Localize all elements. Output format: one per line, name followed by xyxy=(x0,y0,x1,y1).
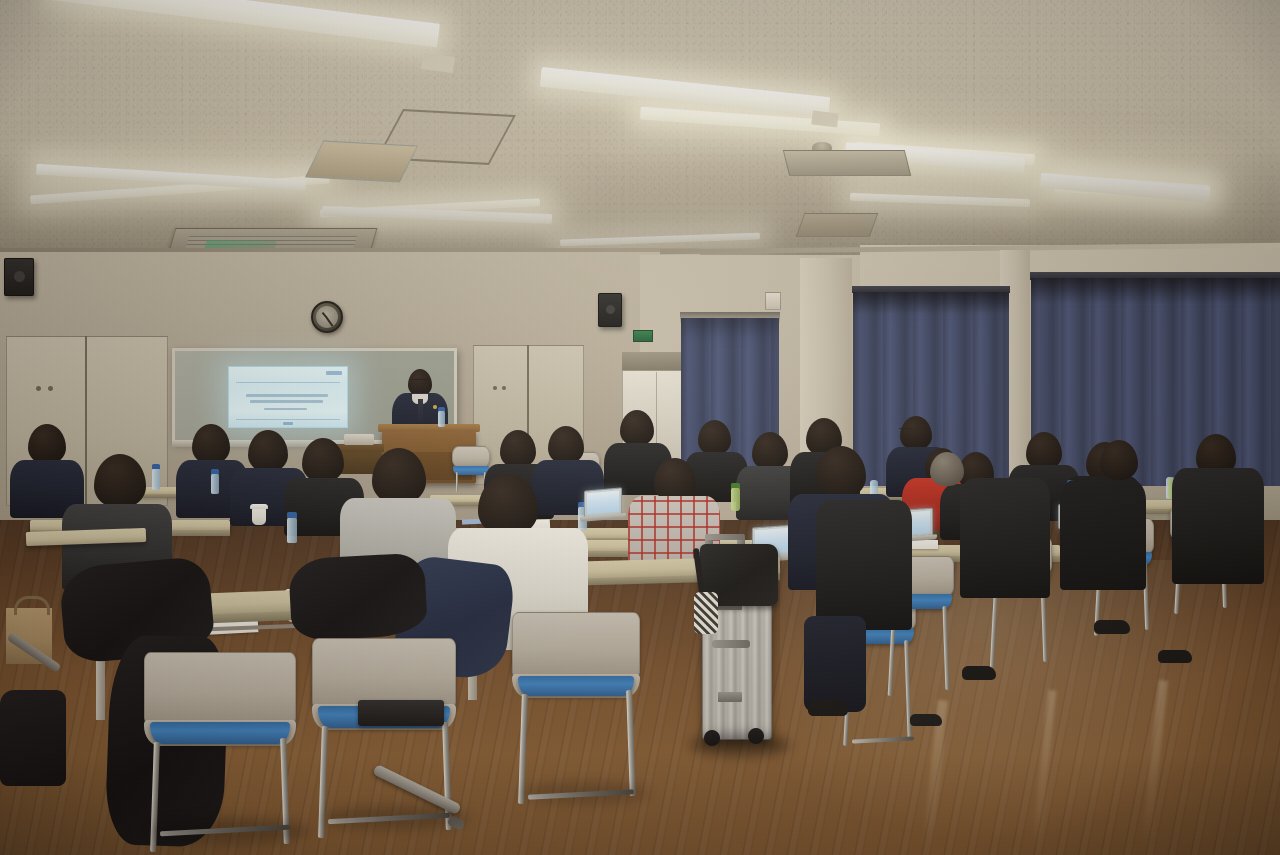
projector-device xyxy=(344,434,374,445)
equipment-case-on-chair[interactable] xyxy=(358,700,444,726)
wall-clock xyxy=(311,301,343,333)
water-bottle xyxy=(152,468,160,490)
chair-seat-foreground[interactable] xyxy=(518,676,634,696)
slide-logo-icon xyxy=(326,371,342,375)
door-handle-icon[interactable] xyxy=(48,386,53,391)
slide-divider xyxy=(236,382,340,383)
presenter-glasses-icon xyxy=(411,379,429,384)
suitcase-latch-icon[interactable] xyxy=(718,692,742,702)
coffee-cup xyxy=(252,508,266,525)
loudspeaker-left xyxy=(4,258,34,296)
audience-shoe xyxy=(962,666,996,680)
water-bottle xyxy=(211,473,219,494)
wall-control-box[interactable] xyxy=(765,292,781,310)
audience-glasses-icon xyxy=(899,428,912,432)
audience-shoe xyxy=(1094,620,1130,634)
slide-text-line xyxy=(246,394,329,397)
slide-text-line xyxy=(250,400,323,403)
backpack-under-table[interactable] xyxy=(0,690,66,786)
chair-back[interactable] xyxy=(452,446,490,468)
chair-back-foreground[interactable] xyxy=(144,652,296,726)
photo-scene xyxy=(0,0,1280,855)
paper-bag-handle xyxy=(14,596,50,615)
door-seam xyxy=(85,336,87,506)
chair-back-foreground[interactable] xyxy=(512,612,640,680)
exit-sign xyxy=(633,330,653,342)
audience-head xyxy=(28,424,66,464)
coffee-cup-lid-icon xyxy=(250,504,268,509)
slide-divider xyxy=(236,419,340,420)
audience-head xyxy=(900,416,932,450)
light-fixture-end-cap xyxy=(811,110,839,127)
curtain-near-window xyxy=(1031,278,1280,494)
audience-head xyxy=(620,410,654,446)
slide-text-line xyxy=(264,408,306,410)
chair-floor-shadow xyxy=(520,782,650,804)
audience-head xyxy=(192,424,230,464)
audience-head xyxy=(500,430,536,468)
bottle-cap-icon xyxy=(287,512,297,518)
suitcase-side-handle[interactable] xyxy=(712,640,750,648)
audience-shoe xyxy=(1158,650,1192,663)
door-handle-icon[interactable] xyxy=(502,386,506,390)
equipment-table xyxy=(336,444,384,452)
audience-shoe xyxy=(910,714,942,726)
chair-seat-foreground[interactable] xyxy=(150,722,290,744)
audience-head-gray-hair xyxy=(930,452,964,486)
bottle-cap-icon xyxy=(731,483,740,488)
speaker-cone-icon xyxy=(606,305,615,314)
door-handle-icon[interactable] xyxy=(493,386,497,390)
audience-head xyxy=(1100,440,1138,480)
cabinet-top-shelf xyxy=(622,352,690,370)
clock-face xyxy=(316,306,338,328)
wall-ceiling-junction xyxy=(0,248,700,252)
audience-torso-black-turtleneck xyxy=(1060,480,1146,590)
audience-torso xyxy=(816,500,912,630)
chair-leg xyxy=(456,472,458,492)
audience-head xyxy=(548,426,584,464)
bottle-cap-icon xyxy=(438,407,445,411)
suitcase-floor-shadow xyxy=(690,734,790,756)
curtain-top-shadow xyxy=(1031,278,1280,304)
coat-draped-black xyxy=(288,552,428,641)
audience-torso xyxy=(960,478,1050,598)
audience-trousers xyxy=(804,616,866,712)
clock-minute-hand xyxy=(326,317,333,326)
green-tea-bottle xyxy=(731,487,740,511)
audience-head xyxy=(752,432,788,470)
bag-knitted-pouch xyxy=(694,592,718,634)
presenter-lapel-badge-icon xyxy=(433,405,437,409)
bottle-cap-icon xyxy=(152,464,160,469)
audience-torso xyxy=(1172,468,1264,584)
loudspeaker-right xyxy=(598,293,622,327)
presenter-necktie xyxy=(418,399,423,423)
chair-floor-shadow xyxy=(150,818,310,844)
audience-head xyxy=(248,430,288,472)
speaker-cone-icon xyxy=(14,271,25,282)
water-bottle xyxy=(287,517,297,543)
suitcase-handle-crossbar[interactable] xyxy=(705,534,745,540)
audience-head xyxy=(302,438,344,482)
audience-head xyxy=(698,420,731,455)
projected-slide xyxy=(228,366,348,428)
door-handle-icon[interactable] xyxy=(36,386,41,391)
slide-footer-mark xyxy=(283,422,293,425)
chair-floor-shadow xyxy=(320,806,470,830)
audience-shoe xyxy=(808,700,848,716)
bottle-cap-icon xyxy=(211,469,219,474)
laptop-screen xyxy=(587,491,619,515)
water-bottle-on-lectern xyxy=(438,410,445,427)
curtain-top-shadow xyxy=(853,292,1009,314)
